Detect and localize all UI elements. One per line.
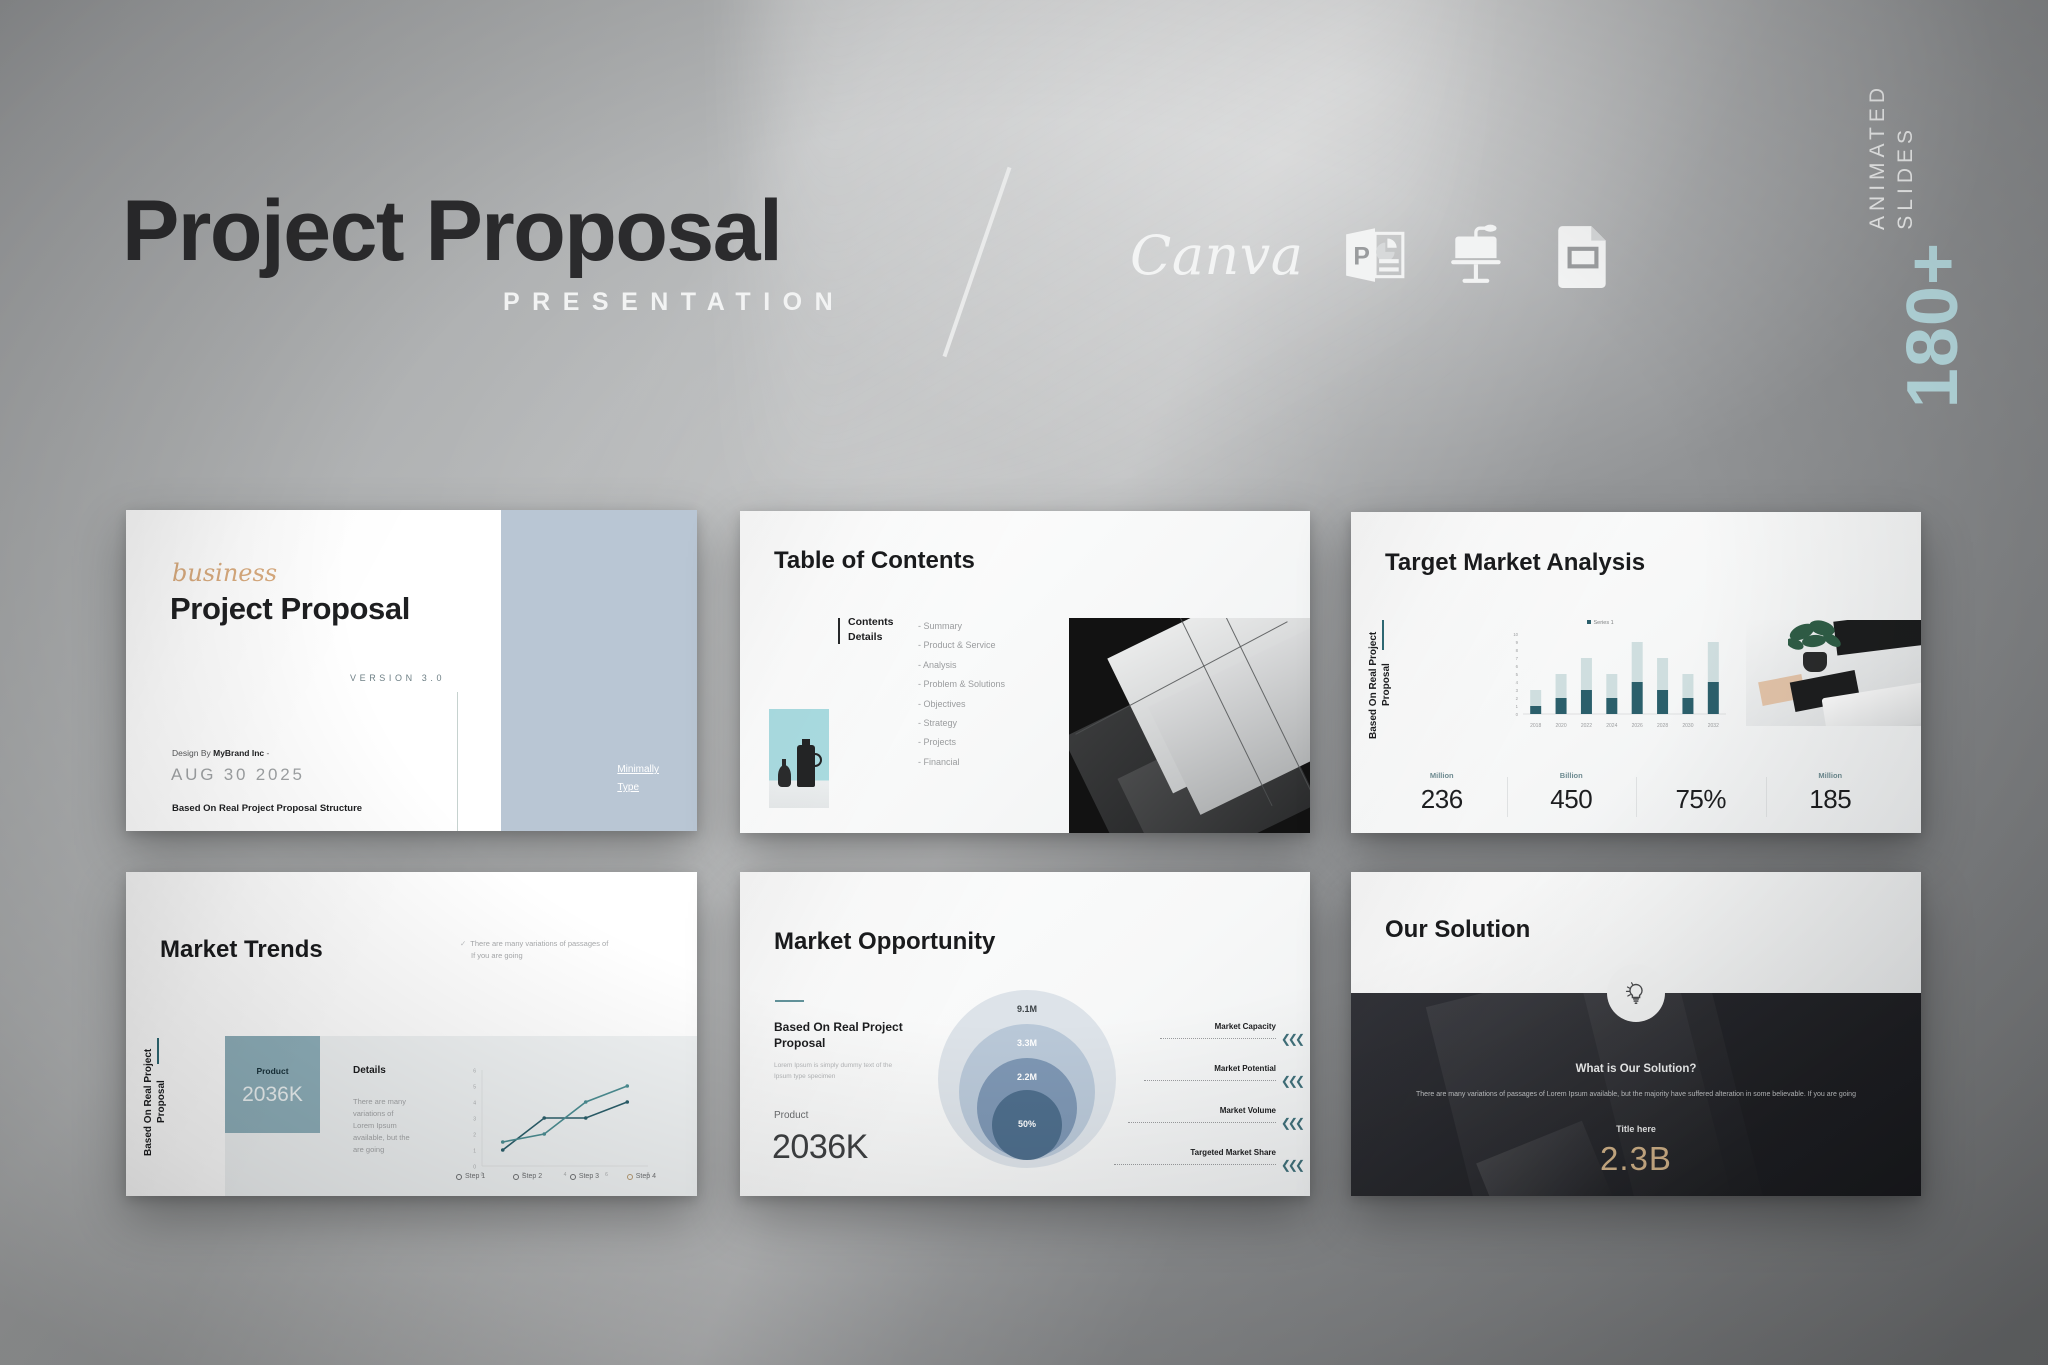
mt-details-title: Details [353,1065,386,1076]
stat-value: 236 [1377,784,1507,815]
stat-value: 450 [1507,784,1637,815]
stat-label: Billion [1507,771,1637,780]
chevron-left-icon: ❮❮❮ [1281,1032,1302,1046]
stat-item: Billion 450 [1507,771,1637,815]
business-script-text: business [172,559,277,587]
title-slide-date: AUG 30 2025 [171,765,305,785]
panel-link-minimally[interactable]: Minimally [617,761,659,779]
svg-text:0: 0 [1516,712,1519,717]
badge-count: 180+ [1892,242,1974,408]
divider-slash [943,167,1012,357]
badge-animated-label: ANIMATED [1866,83,1890,230]
slide-thumbnail-table-of-contents[interactable]: Table of Contents Contents Details - Sum… [740,511,1310,833]
title-slide-color-panel [501,510,697,831]
svg-text:5: 5 [1516,672,1519,677]
bubble-targeted-market-share: 50% [992,1090,1062,1160]
chevron-left-icon: ❮❮❮ [1281,1074,1302,1088]
mt-details-text: There are many variations of Lorem Ipsum… [353,1096,413,1156]
stat-value: 75% [1636,784,1766,815]
mo-based-on: Based On Real Project Proposal [774,1019,914,1051]
stat-item: Million 185 [1766,771,1896,815]
slide-thumbnail-market-opportunity[interactable]: Market Opportunity Based On Real Project… [740,872,1310,1196]
toc-accent-bar [838,618,840,644]
mo-label-row: Market Capacity ❮❮❮ [1112,1022,1302,1064]
title-slide-heading: Project Proposal [170,591,410,627]
legend-label: Step 2 [522,1173,542,1180]
toc-architecture-photo [1069,618,1310,833]
mo-accent-dash [775,1000,804,1002]
mt-product-box: Product 2036K [225,1036,320,1133]
list-item[interactable]: - Strategy [918,714,1005,733]
svg-text:P: P [1353,243,1370,270]
mt-step-legend: Step 1 Step 2 Step 3 Step 4 [456,1173,656,1180]
toc-contents-label: Contents Details [848,615,894,645]
title-slide-version: VERSION 3.0 [350,673,445,683]
svg-text:9: 9 [1516,640,1519,645]
os-paragraph: There are many variations of passages of… [1407,1089,1865,1101]
title-slide-panel-links: Minimally Type [617,761,659,797]
mo-lorem: Lorem Ipsum is simply dummy text of the … [774,1060,899,1082]
slide-thumbnail-title[interactable]: business Project Proposal VERSION 3.0 De… [126,510,697,831]
bar-chart-svg: 0123456789102018202020222024202620282030… [1497,620,1732,738]
lightbulb-icon [1607,964,1665,1022]
list-item[interactable]: - Projects [918,733,1005,752]
page-title: Project Proposal [122,182,781,281]
list-item[interactable]: - Analysis [918,656,1005,675]
mo-product-value: 2036K [772,1128,868,1167]
step-dot-icon [456,1174,462,1180]
legend-item[interactable]: Step 4 [627,1173,656,1180]
mo-product-label: Product [774,1110,808,1121]
tma-desk-photo [1746,620,1921,726]
slide-thumbnail-market-trends[interactable]: Market Trends ✓There are many variations… [126,872,697,1196]
chevron-left-icon: ❮❮❮ [1281,1158,1302,1172]
mt-note: ✓There are many variations of passages o… [460,938,608,962]
google-slides-icon [1550,222,1616,288]
mo-label: Market Potential [1214,1064,1276,1073]
mo-label-row: Market Potential ❮❮❮ [1112,1064,1302,1106]
list-item[interactable]: - Financial [918,753,1005,772]
keynote-icon [1446,222,1512,288]
title-slide-designer: Design By MyBrand Inc - [172,748,269,758]
stat-item: Million 236 [1377,771,1507,815]
stat-label: Million [1377,771,1507,780]
list-item[interactable]: - Problem & Solutions [918,675,1005,694]
svg-text:2: 2 [1516,696,1519,701]
svg-text:8: 8 [1516,648,1519,653]
mt-product-label: Product [225,1066,320,1076]
poster-canvas: Project Proposal PRESENTATION Canva P [0,0,2048,1365]
mo-label-row: Targeted Market Share ❮❮❮ [1112,1148,1302,1190]
list-item[interactable]: - Product & Service [918,636,1005,655]
page-subtitle: PRESENTATION [503,288,845,317]
design-by-brand: MyBrand Inc [213,748,264,758]
powerpoint-icon: P [1342,222,1408,288]
mo-label: Targeted Market Share [1190,1148,1276,1157]
svg-text:3: 3 [473,1117,476,1123]
svg-text:0: 0 [473,1165,476,1171]
mo-label: Market Capacity [1215,1022,1276,1031]
toc-contents-line2: Details [848,630,894,645]
legend-label: Step 4 [636,1173,656,1180]
toc-product-photo [769,709,829,808]
legend-entry: Series 1 [1594,620,1614,626]
list-item[interactable]: - Objectives [918,695,1005,714]
slide-thumbnail-our-solution[interactable]: Our Solution What is Our Solution? There… [1351,872,1921,1196]
title-slide-vertical-rule [457,692,458,831]
svg-text:4: 4 [1516,680,1519,685]
title-slide-based-on: Based On Real Project Proposal Structure [172,803,362,814]
mt-note-line1: There are many variations of passages of [470,939,608,948]
stat-item: 75% [1636,771,1766,815]
step-dot-icon [627,1174,633,1180]
legend-label: Step 3 [579,1173,599,1180]
slide-thumbnail-target-market-analysis[interactable]: Target Market Analysis Based On Real Pro… [1351,512,1921,833]
svg-text:2032: 2032 [1708,723,1719,729]
tma-title: Target Market Analysis [1385,549,1645,577]
stat-label [1636,771,1766,780]
svg-text:3: 3 [1516,688,1519,693]
stat-value: 185 [1766,784,1896,815]
mo-bubble-chart: 9.1M 3.3M 2.2M 50% [938,990,1116,1172]
svg-text:4: 4 [473,1101,476,1107]
toc-title: Table of Contents [774,547,975,575]
mt-vertical-label: Based On Real Project Proposal [142,1038,168,1166]
stat-label: Million [1766,771,1896,780]
design-by-suffix: - [264,748,269,758]
svg-text:1: 1 [473,1149,476,1155]
chart-legend: Series 1 [1587,620,1614,626]
svg-text:1: 1 [1516,704,1519,709]
legend-label: Step 1 [465,1173,485,1180]
svg-text:10: 10 [1513,632,1518,637]
check-icon: ✓ [460,939,466,948]
svg-text:2: 2 [473,1133,476,1139]
svg-text:5: 5 [473,1085,476,1091]
os-sub-title: Title here [1351,1124,1921,1134]
svg-text:7: 7 [1516,656,1519,661]
mo-title: Market Opportunity [774,928,995,956]
slides-count-badge: 180+ ANIMATED SLIDES [1856,108,1976,408]
step-dot-icon [570,1174,576,1180]
panel-link-type[interactable]: Type [617,779,659,797]
svg-text:2028: 2028 [1657,723,1668,729]
svg-text:2022: 2022 [1581,723,1592,729]
bubble-value: 50% [1018,1119,1036,1160]
list-item[interactable]: - Summary [918,617,1005,636]
chevron-left-icon: ❮❮❮ [1281,1116,1302,1130]
canva-logo: Canva [1130,224,1304,287]
os-value: 2.3B [1351,1140,1921,1178]
svg-text:2024: 2024 [1606,723,1617,729]
design-by-prefix: Design By [172,748,213,758]
svg-text:2020: 2020 [1556,723,1567,729]
mo-label-list: Market Capacity ❮❮❮ Market Potential ❮❮❮… [1112,1022,1302,1190]
svg-text:6: 6 [473,1069,476,1075]
toc-list: - Summary - Product & Service - Analysis… [918,617,1005,772]
mo-label: Market Volume [1220,1106,1276,1115]
svg-text:2018: 2018 [1530,723,1541,729]
step-dot-icon [513,1174,519,1180]
mt-title: Market Trends [160,936,323,964]
toc-contents-line1: Contents [848,615,894,630]
compatible-apps-row: Canva P [1130,222,1616,288]
tma-bar-chart: Series 1 0123456789102018202020222024202… [1497,620,1732,738]
mt-product-value: 2036K [225,1083,320,1107]
svg-text:6: 6 [1516,664,1519,669]
legend-item[interactable]: Step 1 [456,1173,485,1180]
tma-vertical-label: Based On Real Project Proposal [1367,620,1393,750]
tma-stats-row: Million 236 Billion 450 75% Million 185 [1377,771,1895,815]
svg-text:2030: 2030 [1682,723,1693,729]
legend-item[interactable]: Step 2 [513,1173,542,1180]
svg-text:2026: 2026 [1632,723,1643,729]
os-title: Our Solution [1385,916,1530,944]
mo-label-row: Market Volume ❮❮❮ [1112,1106,1302,1148]
mt-note-line2: If you are going [460,951,523,960]
os-question: What is Our Solution? [1351,1063,1921,1075]
legend-item[interactable]: Step 3 [570,1173,599,1180]
header: Project Proposal PRESENTATION Canva P [0,0,2048,440]
badge-slides-label: SLIDES [1894,125,1918,230]
